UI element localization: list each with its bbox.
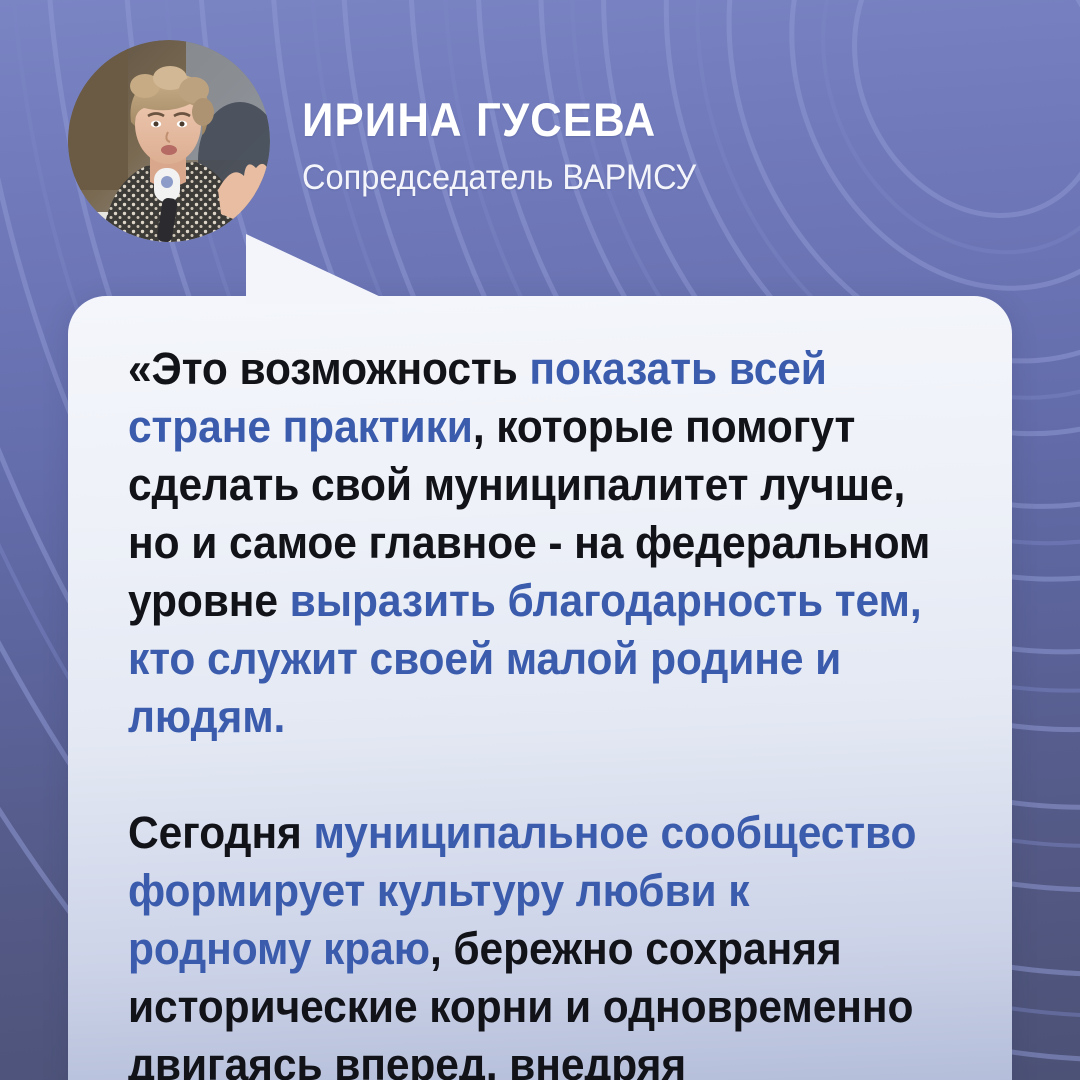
- speaker-identity: ИРИНА ГУСЕВА Сопредседатель ВАРМСУ: [302, 96, 1002, 195]
- quote-run-plain: «Это возможность: [128, 343, 529, 394]
- speech-bubble-tail: [246, 232, 396, 304]
- quote-card-canvas: ИРИНА ГУСЕВА Сопредседатель ВАРМСУ «Это …: [0, 0, 1080, 1080]
- speaker-role: Сопредседатель ВАРМСУ: [302, 160, 953, 195]
- speaker-header: ИРИНА ГУСЕВА Сопредседатель ВАРМСУ: [0, 0, 1080, 300]
- avatar: [68, 40, 270, 242]
- quote-text: «Это возможность показать всей стране пр…: [128, 340, 988, 1080]
- quote-run-plain: Сегодня: [128, 807, 313, 858]
- quote-paragraph-2: Сегодня муниципальное сообщество формиру…: [128, 804, 941, 1080]
- speaker-name: ИРИНА ГУСЕВА: [302, 96, 953, 143]
- quote-paragraph-1: «Это возможность показать всей стране пр…: [128, 340, 941, 746]
